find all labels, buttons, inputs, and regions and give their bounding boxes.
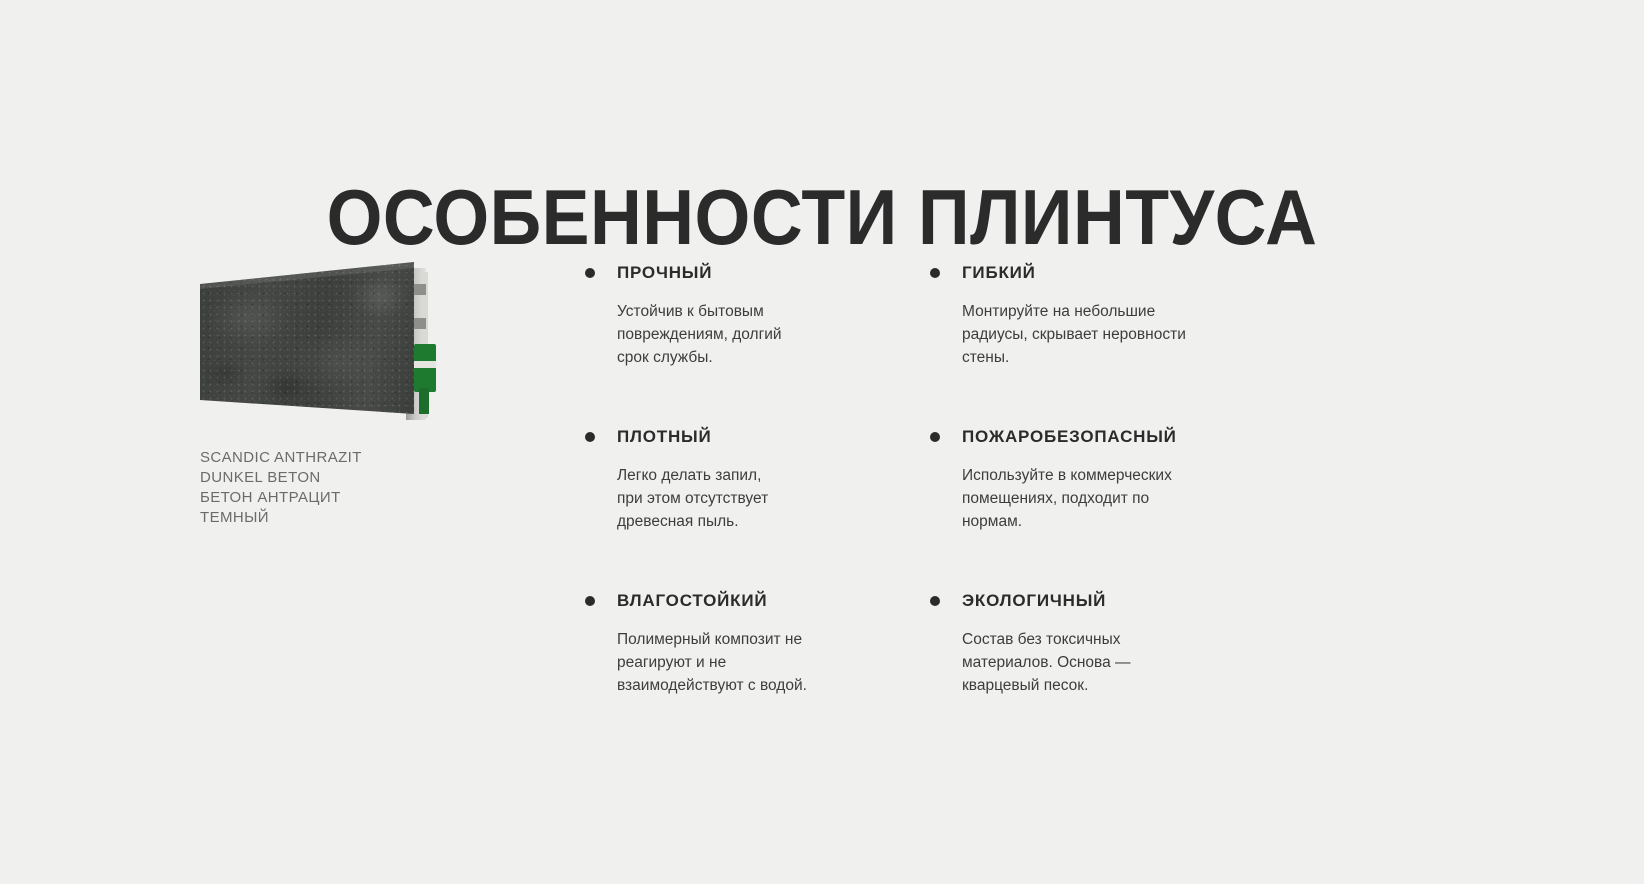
- feature-desc-line-3: стены.: [962, 346, 1192, 369]
- feature-title: ПОЖАРОБЕЗОПАСНЫЙ: [962, 426, 1275, 448]
- plinth-notch-top: [412, 284, 426, 295]
- feature-item-flexible: ГИБКИЙ Монтируйте на небольшие радиусы, …: [930, 262, 1275, 369]
- product-caption-line-4: ТЕМНЫЙ: [200, 508, 362, 528]
- bullet-dot-icon: [585, 432, 595, 442]
- bullet-dot-icon: [585, 596, 595, 606]
- feature-desc-line-1: Полимерный композит не: [617, 628, 847, 651]
- plinth-texture-grain: [200, 262, 448, 422]
- product-caption-line-2: DUNKEL BETON: [200, 468, 362, 488]
- feature-title: ВЛАГОСТОЙКИЙ: [617, 590, 930, 612]
- feature-desc-line-3: кварцевый песок.: [962, 674, 1192, 697]
- plinth-mounting-clip: [414, 344, 436, 392]
- feature-desc-line-1: Устойчив к бытовым: [617, 300, 847, 323]
- feature-item-moisture-resistant: ВЛАГОСТОЙКИЙ Полимерный композит не реаг…: [585, 590, 930, 697]
- feature-desc-line-3: нормам.: [962, 510, 1192, 533]
- page-title: ОСОБЕННОСТИ ПЛИНТУСА: [66, 172, 1578, 262]
- feature-description: Состав без токсичных материалов. Основа …: [962, 628, 1192, 697]
- product-caption-line-1: SCANDIC ANTHRAZIT: [200, 448, 362, 468]
- plinth-mounting-clip-tail: [419, 388, 429, 414]
- bullet-dot-icon: [930, 268, 940, 278]
- plinth-product-image: [200, 262, 448, 422]
- feature-description: Используйте в коммерческих помещениях, п…: [962, 464, 1192, 533]
- feature-item-dense: ПЛОТНЫЙ Легко делать запил, при этом отс…: [585, 426, 930, 533]
- feature-desc-line-1: Монтируйте на небольшие: [962, 300, 1192, 323]
- feature-desc-line-2: радиусы, скрывает неровности: [962, 323, 1192, 346]
- feature-description: Легко делать запил, при этом отсутствует…: [617, 464, 847, 533]
- product-caption: SCANDIC ANTHRAZIT DUNKEL BETON БЕТОН АНТ…: [200, 448, 362, 528]
- feature-desc-line-3: древесная пыль.: [617, 510, 847, 533]
- feature-description: Устойчив к бытовым повреждениям, долгий …: [617, 300, 847, 369]
- feature-desc-line-1: Используйте в коммерческих: [962, 464, 1192, 487]
- feature-desc-line-3: срок службы.: [617, 346, 847, 369]
- feature-desc-line-2: материалов. Основа —: [962, 651, 1192, 674]
- features-grid: ПРОЧНЫЙ Устойчив к бытовым повреждениям,…: [585, 262, 1285, 697]
- feature-item-fire-safe: ПОЖАРОБЕЗОПАСНЫЙ Используйте в коммерчес…: [930, 426, 1275, 533]
- feature-title: ЭКОЛОГИЧНЫЙ: [962, 590, 1275, 612]
- feature-title: ПЛОТНЫЙ: [617, 426, 930, 448]
- page-root: ОСОБЕННОСТИ ПЛИНТУСА SCANDIC ANTHRAZIT D…: [0, 0, 1644, 884]
- product-caption-line-3: БЕТОН АНТРАЦИТ: [200, 488, 362, 508]
- feature-description: Монтируйте на небольшие радиусы, скрывае…: [962, 300, 1192, 369]
- feature-desc-line-1: Легко делать запил,: [617, 464, 847, 487]
- feature-desc-line-2: при этом отсутствует: [617, 487, 847, 510]
- feature-desc-line-3: взаимодействуют с водой.: [617, 674, 847, 697]
- feature-title: ГИБКИЙ: [962, 262, 1275, 284]
- feature-desc-line-2: помещениях, подходит по: [962, 487, 1192, 510]
- feature-desc-line-2: реагируют и не: [617, 651, 847, 674]
- feature-title: ПРОЧНЫЙ: [617, 262, 930, 284]
- product-block: SCANDIC ANTHRAZIT DUNKEL BETON БЕТОН АНТ…: [200, 262, 520, 422]
- plinth-notch-middle: [412, 318, 426, 329]
- bullet-dot-icon: [930, 432, 940, 442]
- bullet-dot-icon: [930, 596, 940, 606]
- feature-description: Полимерный композит не реагируют и не вз…: [617, 628, 847, 697]
- bullet-dot-icon: [585, 268, 595, 278]
- feature-item-durable: ПРОЧНЫЙ Устойчив к бытовым повреждениям,…: [585, 262, 930, 369]
- feature-desc-line-2: повреждениям, долгий: [617, 323, 847, 346]
- feature-desc-line-1: Состав без токсичных: [962, 628, 1192, 651]
- feature-item-eco-friendly: ЭКОЛОГИЧНЫЙ Состав без токсичных материа…: [930, 590, 1275, 697]
